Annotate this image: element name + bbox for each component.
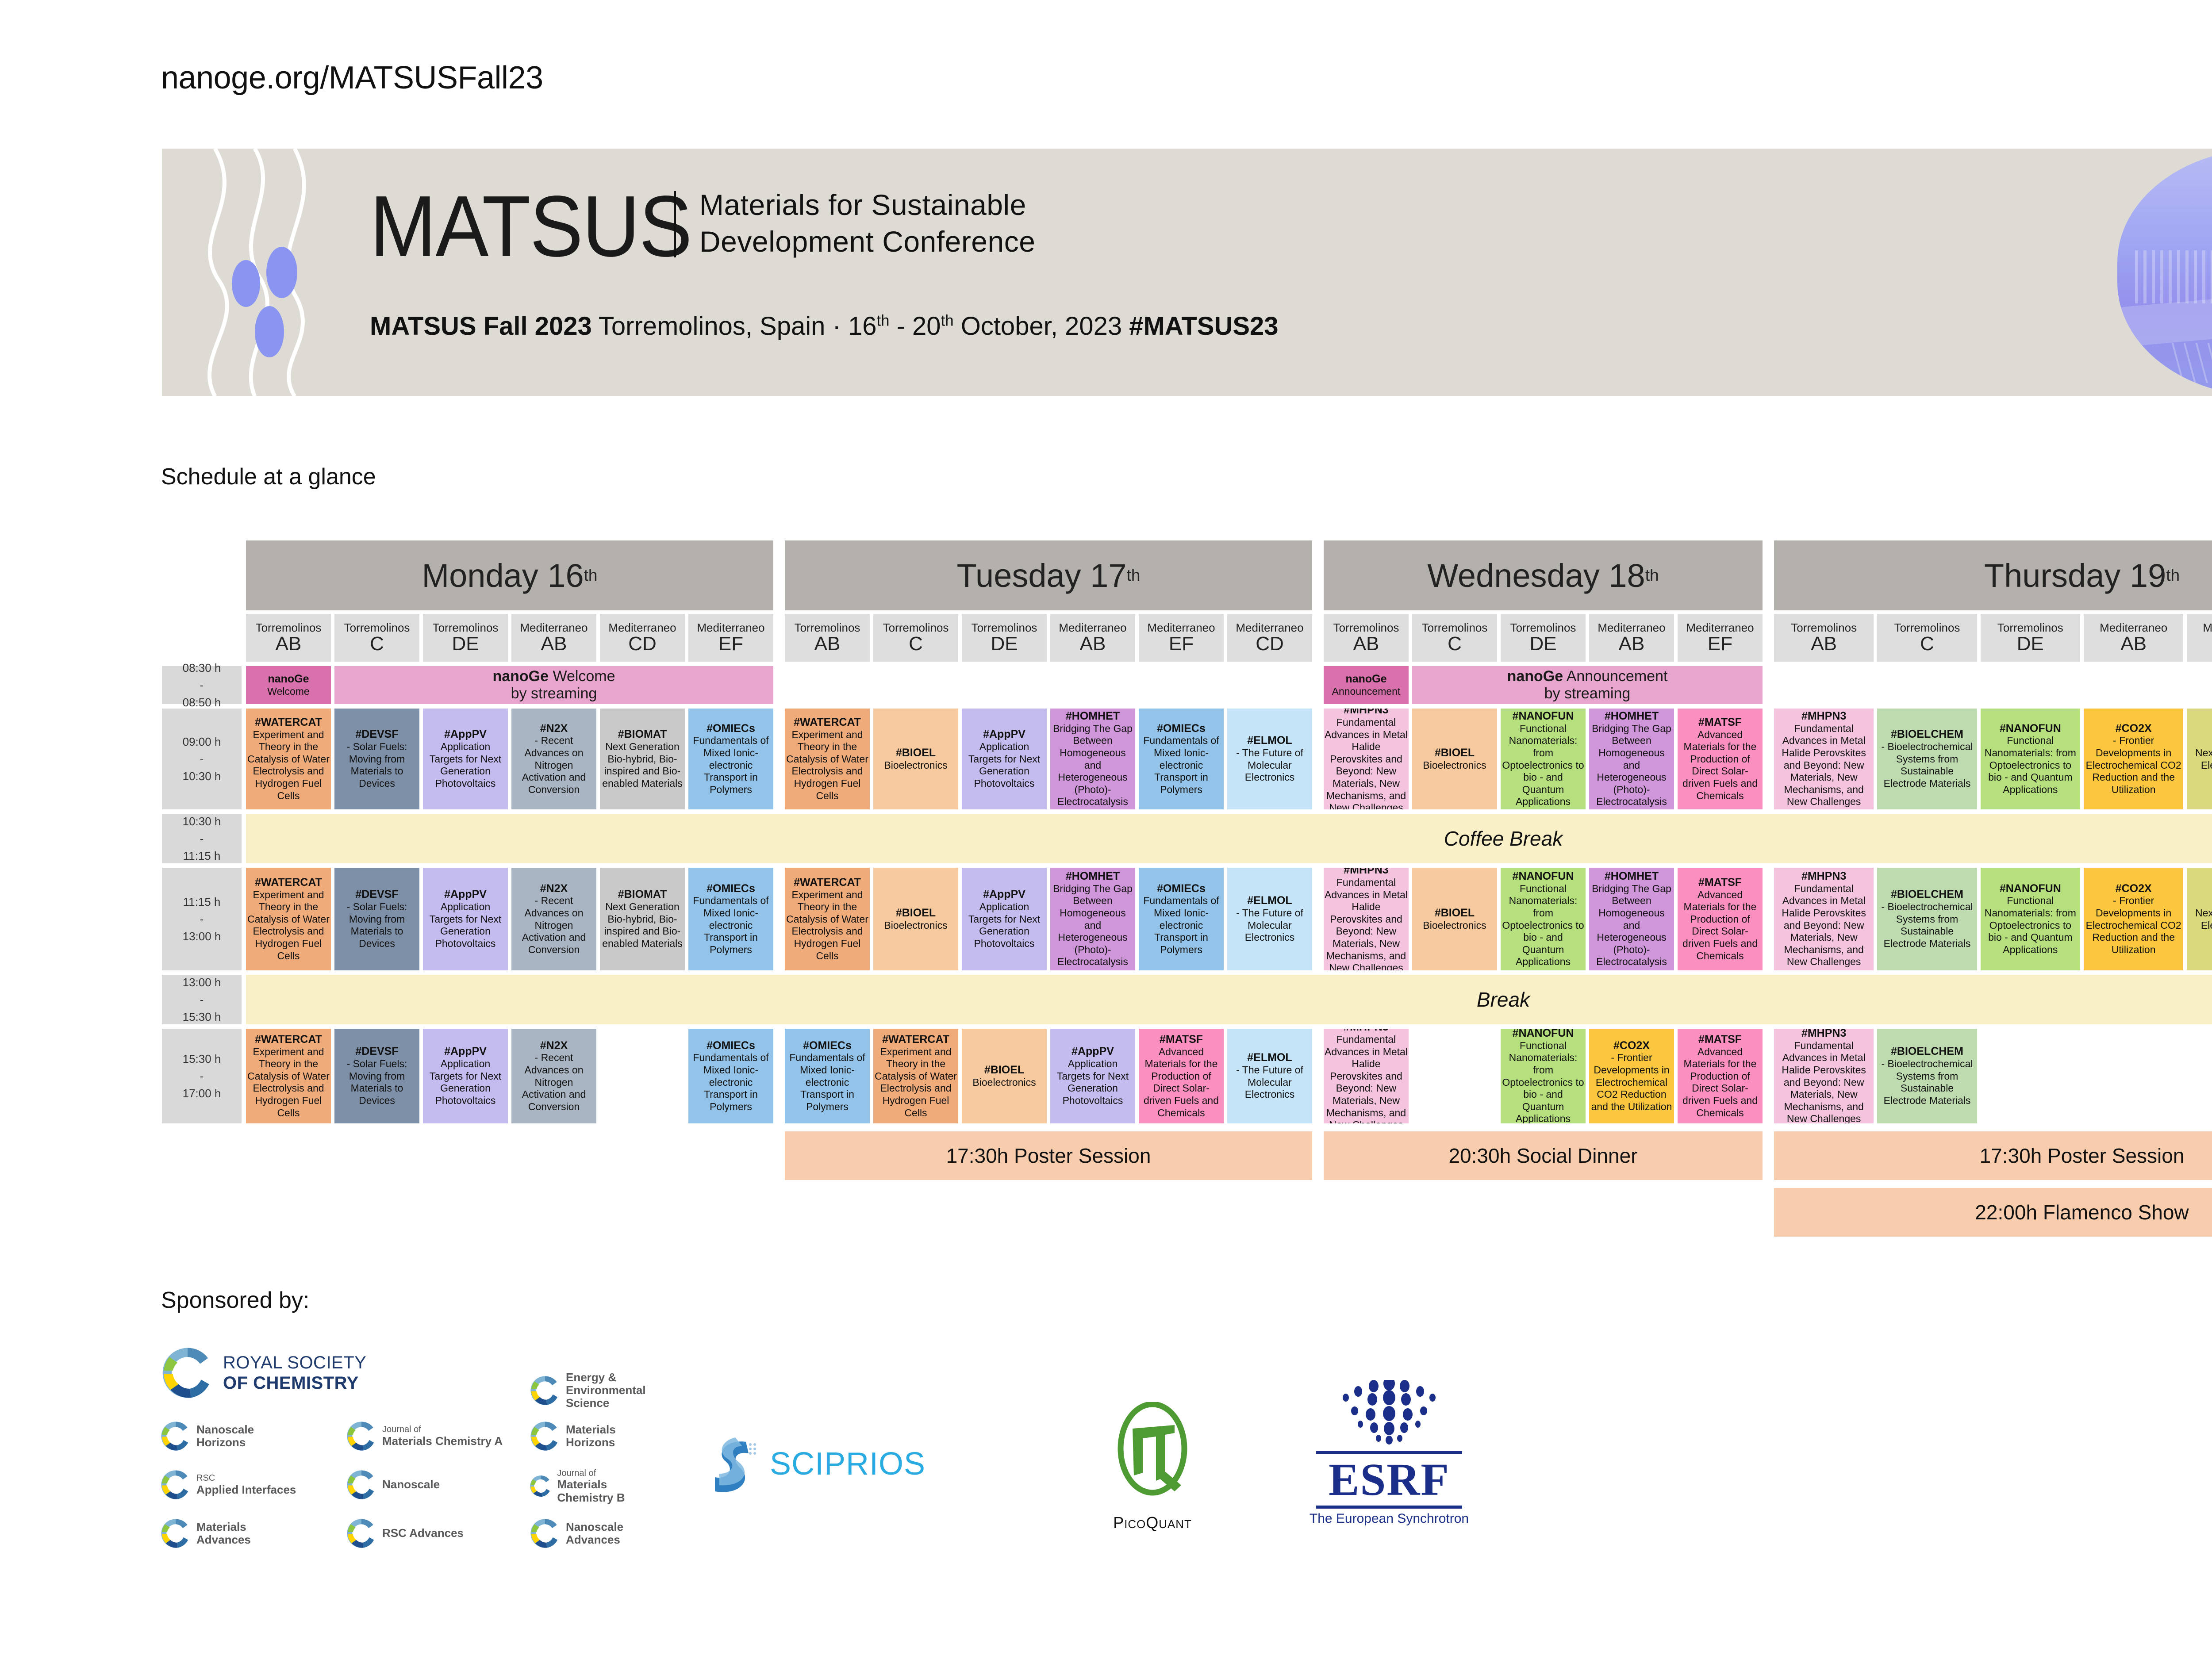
session-code: #OMIECs <box>803 1039 852 1052</box>
session-desc: Fundamentals of Mixed Ionic-electronic T… <box>689 895 772 956</box>
session-desc: Fundamentals of Mixed Ionic-electronic T… <box>1140 735 1223 796</box>
session-nanofun[interactable]: #NANOFUNFunctional Nanomaterials: from O… <box>1981 709 2080 809</box>
session-homhet[interactable]: #HOMHETBridging The Gap Between Homogene… <box>1589 868 1674 970</box>
session-matsf[interactable]: #MATSFAdvanced Materials for the Product… <box>1678 868 1763 970</box>
session-desc: Functional Nanomaterials: from Optoelect… <box>1502 1040 1585 1123</box>
streaming-label: Announcement <box>1563 668 1667 685</box>
session-apppv[interactable]: #AppPVApplication Targets for Next Gener… <box>423 709 508 809</box>
room-name: Torremolinos <box>1333 622 1399 633</box>
rsc-c-icon <box>345 1420 378 1452</box>
time-label: 10:30 h-11:15 h <box>162 814 242 863</box>
room-header-torremolinos-de: TorremolinosDE <box>1981 614 2080 662</box>
room-name: Torremolinos <box>433 622 499 633</box>
room-name: Torremolinos <box>1510 622 1576 633</box>
session-watercat[interactable]: #WATERCATExperiment and Theory in the Ca… <box>785 709 870 809</box>
session-desc: Fundamental Advances in Metal Halide Per… <box>1325 1034 1408 1123</box>
session-watercat[interactable]: #WATERCATExperiment and Theory in the Ca… <box>246 1029 331 1123</box>
room-code: AB <box>814 634 841 654</box>
row-opening: 08:30 h-08:50 hnanoGeWelcomenanoGe Welco… <box>162 666 2212 704</box>
session-nanofun[interactable]: #NANOFUNFunctional Nanomaterials: from O… <box>1501 709 1586 809</box>
session-code: #NANOFUN <box>2000 722 2061 735</box>
session-desc: Functional Nanomaterials: from Optoelect… <box>1502 723 1585 808</box>
sponsor-journal-materials-horizons[interactable]: MaterialsHorizons <box>529 1420 616 1452</box>
session-desc: Next Generation Bio-hybrid, Bio-inspired… <box>601 741 684 789</box>
session-desc: Fundamentals of Mixed Ionic-electronic T… <box>689 1052 772 1113</box>
session-homhet[interactable]: #HOMHETBridging The Gap Between Homogene… <box>1050 868 1135 970</box>
sponsor-journal-materials-chemistry-b[interactable]: Journal ofMaterials Chemistry B <box>529 1468 646 1504</box>
streaming-sub: by streaming <box>511 685 597 702</box>
rsc-c-icon <box>159 1345 216 1401</box>
room-code: AB <box>276 634 302 654</box>
sponsor-journal-materials-advances[interactable]: MaterialsAdvances <box>159 1517 251 1550</box>
time-from: 11:15 h <box>183 893 221 911</box>
session-bioel[interactable]: #BIOELBioelectronics <box>1412 868 1497 970</box>
room-name: Mediterraneo <box>2203 622 2212 633</box>
session-code: #WATERCAT <box>255 1033 322 1046</box>
row-morning-1: 09:00 h-10:30 h#WATERCATExperiment and T… <box>162 709 2212 809</box>
time-label: 15:30 h-17:00 h <box>162 1029 242 1123</box>
banner-date-tail: October, 2023 <box>954 312 1129 341</box>
session-code: #NANOFUN <box>1513 870 1574 883</box>
room-name: Mediterraneo <box>1147 622 1215 633</box>
journal-label: NanoscaleHorizons <box>196 1423 254 1449</box>
nanoge-announcement-streaming[interactable]: nanoGe Announcementby streaming <box>1412 666 1763 704</box>
room-header-mediterraneo-ab: MediterraneoAB <box>1589 614 1674 662</box>
session-code: #HOMHET <box>1605 710 1659 723</box>
room-name: Torremolinos <box>1894 622 1960 633</box>
session-n2x[interactable]: #N2X - Recent Advances on Nitrogen Activ… <box>511 709 596 809</box>
session-omiecs[interactable]: #OMIECsFundamentals of Mixed Ionic-elect… <box>688 868 773 970</box>
session-code: #OMIECs <box>707 1039 755 1052</box>
room-code: AB <box>1353 634 1379 654</box>
time-from: 09:00 h <box>183 733 221 751</box>
session-code: #WATERCAT <box>882 1033 949 1046</box>
session-code: #MATSF <box>1160 1033 1203 1046</box>
session-mhpn3[interactable]: #MHPN3Fundamental Advances in Metal Hali… <box>1774 868 1874 970</box>
session-code: #CO2X <box>2116 722 2152 735</box>
social-event-label: 17:30h Poster Session <box>1980 1144 2185 1168</box>
session-omiecs[interactable]: #OMIECsFundamentals of Mixed Ionic-elect… <box>1139 868 1224 970</box>
session-code: #HOMHET <box>1605 870 1659 883</box>
room-header-mediterraneo-ab: MediterraneoAB <box>2084 614 2183 662</box>
rsc-line2: OF CHEMISTRY <box>223 1373 359 1393</box>
session-desc: Fundamental Advances in Metal Halide Per… <box>1325 716 1408 809</box>
room-name: Torremolinos <box>1791 622 1857 633</box>
time-to: 17:00 h <box>183 1085 221 1102</box>
room-header-torremolinos-de: TorremolinosDE <box>962 614 1047 662</box>
esrf-logo: ESRF The European Synchrotron <box>1296 1380 1482 1526</box>
journal-prefix: Journal of <box>557 1468 646 1478</box>
time-label: 13:00 h-15:30 h <box>162 975 242 1024</box>
session-nanofun[interactable]: #NANOFUNFunctional Nanomaterials: from O… <box>1501 868 1586 970</box>
picoquant-uant: UANT <box>1159 1518 1192 1531</box>
session-code: #OMIECs <box>1157 722 1206 735</box>
session-code: #BIOEL <box>1435 747 1475 759</box>
day-header-monday: Monday 16th <box>246 540 773 610</box>
session-code: #OMIECs <box>1157 882 1206 895</box>
session-nexted[interactable]: #NextEDNext generation of Electrochemica… <box>2187 868 2212 970</box>
session-desc: Bridging The Gap Between Homogeneous and… <box>1590 883 1673 968</box>
session-desc: Advanced Materials for the Production of… <box>1678 729 1762 802</box>
room-name: Mediterraneo <box>1686 622 1754 633</box>
session-code: #DEVSF <box>355 728 398 741</box>
room-header-torremolinos-de: TorremolinosDE <box>1501 614 1586 662</box>
sponsor-journal-materials-chemistry-a[interactable]: Journal ofMaterials Chemistry A <box>345 1420 503 1452</box>
journal-label: RSCApplied Interfaces <box>196 1473 296 1496</box>
session-code: #MHPN3 <box>1344 868 1388 877</box>
session-desc: Application Targets for Next Generation … <box>1051 1058 1134 1107</box>
session-nanofun[interactable]: #NANOFUNFunctional Nanomaterials: from O… <box>1501 1029 1586 1123</box>
journal-label: Nanoscale <box>382 1478 440 1491</box>
room-header-mediterraneo-ab: MediterraneoAB <box>511 614 596 662</box>
session-biomat[interactable]: #BIOMATNext Generation Bio-hybrid, Bio-i… <box>600 709 685 809</box>
session-watercat[interactable]: #WATERCATExperiment and Theory in the Ca… <box>785 868 870 970</box>
session-desc: Fundamental Advances in Metal Halide Per… <box>1775 883 1873 968</box>
session-n2x[interactable]: #N2X - Recent Advances on Nitrogen Activ… <box>511 1029 596 1123</box>
room-code: CD <box>628 634 657 654</box>
session-desc: Next Generation Bio-hybrid, Bio-inspired… <box>601 901 684 950</box>
session-code: #DEVSF <box>355 1045 398 1058</box>
rsc-c-icon <box>529 1470 553 1502</box>
session-code: #MATSF <box>1698 876 1742 889</box>
sponsored-by-label: Sponsored by: <box>161 1287 309 1314</box>
session-devsf[interactable]: #DEVSF - Solar Fuels: Moving from Materi… <box>334 868 419 970</box>
session-co2x[interactable]: #CO2X - Frontier Developments in Electro… <box>1589 1029 1674 1123</box>
room-header-row: TorremolinosABTorremolinosCTorremolinosD… <box>162 614 2212 662</box>
room-header-torremolinos-c: TorremolinosC <box>1877 614 1977 662</box>
session-apppv[interactable]: #AppPVApplication Targets for Next Gener… <box>1050 1029 1135 1123</box>
session-elmol[interactable]: #ELMOL - The Future of Molecular Electro… <box>1227 868 1312 970</box>
session-watercat[interactable]: #WATERCATExperiment and Theory in the Ca… <box>873 1029 958 1123</box>
session-desc: Application Targets for Next Generation … <box>963 741 1046 789</box>
journal-label: Energy &EnvironmentalScience <box>566 1371 646 1410</box>
row-morning-2: 11:15 h-13:00 h#WATERCATExperiment and T… <box>162 868 2212 970</box>
session-code: #HOMHET <box>1066 710 1120 723</box>
session-apppv[interactable]: #AppPVApplication Targets for Next Gener… <box>962 709 1047 809</box>
room-code: C <box>1448 634 1462 654</box>
session-mhpn3[interactable]: #MHPN3Fundamental Advances in Metal Hali… <box>1324 868 1409 970</box>
sponsor-journal-nanoscale-horizons[interactable]: NanoscaleHorizons <box>159 1420 254 1452</box>
session-elmol[interactable]: #ELMOL - The Future of Molecular Electro… <box>1227 709 1312 809</box>
room-code: C <box>370 634 384 654</box>
session-desc: - Solar Fuels: Moving from Materials to … <box>335 1058 419 1107</box>
rsc-c-icon <box>529 1374 561 1407</box>
session-mhpn3[interactable]: #MHPN3Fundamental Advances in Metal Hali… <box>1774 709 1874 809</box>
session-co2x[interactable]: #CO2X - Frontier Developments in Electro… <box>2084 709 2183 809</box>
session-elmol[interactable]: #ELMOL - The Future of Molecular Electro… <box>1227 1029 1312 1123</box>
session-desc: Announcement <box>1332 686 1401 698</box>
session-desc: Fundamentals of Mixed Ionic-electronic T… <box>1140 895 1223 956</box>
session-omiecs[interactable]: #OMIECsFundamentals of Mixed Ionic-elect… <box>1139 709 1224 809</box>
session-desc: Fundamental Advances in Metal Halide Per… <box>1775 1040 1873 1123</box>
social-event-label: 20:30h Social Dinner <box>1448 1144 1637 1168</box>
session-desc: Application Targets for Next Generation … <box>424 741 507 789</box>
session-omiecs[interactable]: #OMIECsFundamentals of Mixed Ionic-elect… <box>688 709 773 809</box>
session-desc: Bioelectronics <box>884 759 947 772</box>
social-event-label: 22:00h Flamenco Show <box>1975 1200 2189 1224</box>
session-omiecs[interactable]: #OMIECsFundamentals of Mixed Ionic-elect… <box>688 1029 773 1123</box>
picoquant-wordmark: PICOQUANT <box>1079 1508 1225 1533</box>
streaming-label: Welcome <box>549 668 615 685</box>
sponsor-journal-energy-environmental-science[interactable]: Energy &EnvironmentalScience <box>529 1371 646 1410</box>
day-title: Tuesday 17 <box>957 557 1127 594</box>
session-code: #BIOMAT <box>618 728 667 741</box>
session-bioelchem[interactable]: #BIOELCHEM - Bioelectrochemical Systems … <box>1877 1029 1977 1123</box>
session-code: #AppPV <box>983 728 1025 741</box>
session-devsf[interactable]: #DEVSF - Solar Fuels: Moving from Materi… <box>334 1029 419 1123</box>
session-homhet[interactable]: #HOMHETBridging The Gap Between Homogene… <box>1050 709 1135 809</box>
session-desc: - Frontier Developments in Electrochemic… <box>1590 1052 1673 1113</box>
session-code: #BIOEL <box>1435 907 1475 920</box>
session-code: #AppPV <box>444 728 487 741</box>
session-code: #N2X <box>540 1039 568 1052</box>
time-to: 15:30 h <box>183 1008 221 1026</box>
room-code: EF <box>1169 634 1194 654</box>
row-lunch-break: 13:00 h-15:30 hBreak <box>162 975 2212 1024</box>
session-nexted[interactable]: #NextEDNext generation of Electrochemica… <box>2187 709 2212 809</box>
journal-label: MaterialsHorizons <box>566 1423 616 1449</box>
social-event-label: 17:30h Poster Session <box>946 1144 1151 1168</box>
time-label: 11:15 h-13:00 h <box>162 868 242 970</box>
session-desc: - Recent Advances on Nitrogen Activation… <box>512 1052 595 1113</box>
time-label: 09:00 h-10:30 h <box>162 709 242 809</box>
session-desc: - Recent Advances on Nitrogen Activation… <box>512 735 595 796</box>
session-bioel[interactable]: #BIOELBioelectronics <box>873 709 958 809</box>
session-nanofun[interactable]: #NANOFUNFunctional Nanomaterials: from O… <box>1981 868 2080 970</box>
conference-banner: MATSUS Materials for Sustainable Develop… <box>162 149 2212 396</box>
sponsor-journal-nanoscale-advances[interactable]: NanoscaleAdvances <box>529 1517 623 1550</box>
day-header-row: Monday 16thTuesday 17thWednesday 18thThu… <box>162 540 2212 610</box>
room-name: Torremolinos <box>883 622 949 633</box>
session-bioel[interactable]: #BIOELBioelectronics <box>962 1029 1047 1123</box>
session-homhet[interactable]: #HOMHETBridging The Gap Between Homogene… <box>1589 709 1674 809</box>
session-code: #CO2X <box>2116 882 2152 895</box>
social-event-0[interactable]: 17:30h Poster Session <box>785 1131 1312 1180</box>
social-event-3[interactable]: 22:00h Flamenco Show <box>1774 1188 2212 1237</box>
day-ordinal: th <box>2166 566 2180 585</box>
banner-ordinal-1: th <box>876 312 889 330</box>
session-desc: Advanced Materials for the Production of… <box>1140 1046 1223 1119</box>
session-code: #AppPV <box>444 1045 487 1058</box>
session-code: #AppPV <box>444 888 487 901</box>
banner-dash: - 20 <box>890 312 941 341</box>
row-social-events-2: 22:00h Flamenco Show <box>162 1188 2212 1237</box>
session-code: #DEVSF <box>355 888 398 901</box>
room-code: DE <box>2017 634 2044 654</box>
banner-subtitle-line2: Development Conference <box>699 223 1035 260</box>
session-desc: Bioelectronics <box>972 1077 1036 1089</box>
picoquant-logo: PICOQUANT <box>1079 1402 1225 1533</box>
session-code: #ELMOL <box>1247 734 1292 747</box>
session-desc: Bioelectronics <box>1423 920 1486 932</box>
session-code: #WATERCAT <box>794 876 861 889</box>
session-apppv[interactable]: #AppPVApplication Targets for Next Gener… <box>423 1029 508 1123</box>
session-code: #MHPN3 <box>1344 1029 1388 1034</box>
session-code: #NANOFUN <box>1513 710 1574 723</box>
sponsor-journal-applied-interfaces[interactable]: RSCApplied Interfaces <box>159 1468 296 1501</box>
rsc-c-icon <box>159 1468 192 1501</box>
room-code: C <box>1920 634 1934 654</box>
room-code: AB <box>2120 634 2147 654</box>
session-desc: Functional Nanomaterials: from Optoelect… <box>1982 895 2079 956</box>
journal-prefix: Journal of <box>382 1425 503 1434</box>
room-name: Mediterraneo <box>608 622 676 633</box>
streaming-brand: nanoGe <box>1507 668 1563 685</box>
journal-label: NanoscaleAdvances <box>566 1521 623 1546</box>
time-from: 08:30 h <box>183 659 221 677</box>
session-desc: Bridging The Gap Between Homogeneous and… <box>1051 723 1134 808</box>
session-desc: - The Future of Molecular Electronics <box>1228 1064 1311 1101</box>
time-to: 11:15 h <box>183 847 221 865</box>
room-name: Torremolinos <box>1422 622 1488 633</box>
banner-edition: MATSUS Fall 2023 <box>370 312 592 341</box>
room-header-torremolinos-ab: TorremolinosAB <box>785 614 870 662</box>
session-apppv[interactable]: #AppPVApplication Targets for Next Gener… <box>962 868 1047 970</box>
session-code: #WATERCAT <box>794 716 861 729</box>
time-from: 10:30 h <box>183 813 221 830</box>
session-code: #BIOEL <box>896 747 936 759</box>
session-code: nanoGe <box>268 673 309 686</box>
room-code: AB <box>541 634 567 654</box>
room-header-mediterraneo-cd: MediterraneoCD <box>1227 614 1312 662</box>
session-desc: Fundamentals of Mixed Ionic-electronic T… <box>786 1052 869 1113</box>
session-desc: Bioelectronics <box>1423 759 1486 772</box>
room-code: DE <box>452 634 479 654</box>
sciprios-wordmark: SCIPRIOS <box>770 1446 926 1482</box>
room-header-mediterraneo-cd: MediterraneoCD <box>2187 614 2212 662</box>
session-matsf[interactable]: #MATSFAdvanced Materials for the Product… <box>1678 1029 1763 1123</box>
day-header-tuesday: Tuesday 17th <box>785 540 1312 610</box>
session-code: #MHPN3 <box>1801 1029 1846 1040</box>
nanoge-announcement-room[interactable]: nanoGeAnnouncement <box>1324 666 1409 704</box>
rsc-c-icon <box>529 1420 561 1452</box>
session-bioelchem[interactable]: #BIOELCHEM - Bioelectrochemical Systems … <box>1877 709 1977 809</box>
day-ordinal: th <box>1127 566 1141 585</box>
time-dash: - <box>200 911 204 928</box>
session-code: #AppPV <box>983 888 1025 901</box>
session-watercat[interactable]: #WATERCATExperiment and Theory in the Ca… <box>246 709 331 809</box>
picoquant-ring-icon <box>1108 1402 1197 1504</box>
day-title: Wednesday 18 <box>1427 557 1645 594</box>
session-code: #WATERCAT <box>255 876 322 889</box>
time-dash: - <box>200 830 204 847</box>
matsus-dots-mark <box>211 224 326 352</box>
social-event-2[interactable]: 17:30h Poster Session <box>1774 1131 2212 1180</box>
session-code: #HOMHET <box>1066 870 1120 883</box>
session-code: #N2X <box>540 722 568 735</box>
rsc-c-icon <box>345 1468 378 1501</box>
social-event-1[interactable]: 20:30h Social Dinner <box>1324 1131 1763 1180</box>
poster-page: nanoge.org/MATSUSFall23 MATSUS Materials… <box>0 0 2212 1659</box>
room-header-torremolinos-c: TorremolinosC <box>334 614 419 662</box>
sponsor-journal-nanoscale[interactable]: Nanoscale <box>345 1468 440 1501</box>
session-desc: - Recent Advances on Nitrogen Activation… <box>512 895 595 956</box>
room-name: Mediterraneo <box>1598 622 1665 633</box>
streaming-brand: nanoGe <box>492 668 549 685</box>
session-code: #MHPN3 <box>1801 710 1846 723</box>
session-bioel[interactable]: #BIOELBioelectronics <box>1412 709 1497 809</box>
session-desc: Experiment and Theory in the Catalysis o… <box>247 729 330 802</box>
rsc-c-icon <box>159 1517 192 1550</box>
session-watercat[interactable]: #WATERCATExperiment and Theory in the Ca… <box>246 868 331 970</box>
rsc-line1: ROYAL SOCIETY <box>223 1353 366 1372</box>
session-mhpn3[interactable]: #MHPN3Fundamental Advances in Metal Hali… <box>1324 709 1409 809</box>
time-to: 10:30 h <box>183 768 221 785</box>
rsc-c-icon <box>159 1420 192 1452</box>
session-mhpn3[interactable]: #MHPN3Fundamental Advances in Metal Hali… <box>1774 1029 1874 1123</box>
session-code: #BIOELCHEM <box>1891 1045 1963 1058</box>
lunch-break-bar: Break <box>246 975 2212 1024</box>
session-bioel[interactable]: #BIOELBioelectronics <box>873 868 958 970</box>
session-code: #MATSF <box>1698 1033 1742 1046</box>
session-biomat[interactable]: #BIOMATNext Generation Bio-hybrid, Bio-i… <box>600 868 685 970</box>
time-from: 13:00 h <box>183 974 221 991</box>
schedule-at-a-glance-label: Schedule at a glance <box>161 464 376 490</box>
session-co2x[interactable]: #CO2X - Frontier Developments in Electro… <box>2084 868 2183 970</box>
session-code: #WATERCAT <box>255 716 322 729</box>
time-from: 15:30 h <box>183 1050 221 1068</box>
coffee-break-bar: Coffee Break <box>246 814 2212 863</box>
schedule-grid: Monday 16thTuesday 17thWednesday 18thThu… <box>162 540 2212 1237</box>
room-code: EF <box>718 634 743 654</box>
session-desc: Experiment and Theory in the Catalysis o… <box>786 729 869 802</box>
room-header-torremolinos-c: TorremolinosC <box>873 614 958 662</box>
time-dash: - <box>200 751 204 768</box>
sponsor-journal-rsc-advances[interactable]: RSC Advances <box>345 1517 464 1550</box>
sponsor-royal-society-of-chemistry[interactable]: ROYAL SOCIETYOF CHEMISTRY <box>159 1345 366 1401</box>
esrf-dots-icon <box>1296 1380 1482 1446</box>
session-devsf[interactable]: #DEVSF - Solar Fuels: Moving from Materi… <box>334 709 419 809</box>
room-header-mediterraneo-ef: MediterraneoEF <box>1139 614 1224 662</box>
banner-datestrip: MATSUS Fall 2023 Torremolinos, Spain · 1… <box>370 311 1279 341</box>
session-n2x[interactable]: #N2X - Recent Advances on Nitrogen Activ… <box>511 868 596 970</box>
streaming-sub: by streaming <box>1544 685 1631 702</box>
time-to: 13:00 h <box>183 928 221 945</box>
session-desc: Experiment and Theory in the Catalysis o… <box>786 889 869 962</box>
room-header-torremolinos-ab: TorremolinosAB <box>1774 614 1874 662</box>
room-code: CD <box>1256 634 1284 654</box>
day-ordinal: th <box>584 566 598 585</box>
room-header-torremolinos-ab: TorremolinosAB <box>246 614 331 662</box>
nanoge-welcome-room[interactable]: nanoGeWelcome <box>246 666 331 704</box>
room-header-mediterraneo-ef: MediterraneoEF <box>1678 614 1763 662</box>
session-desc: Fundamental Advances in Metal Halide Per… <box>1775 723 1873 808</box>
session-code: #ELMOL <box>1247 1051 1292 1064</box>
session-code: #MATSF <box>1698 716 1742 729</box>
session-apppv[interactable]: #AppPVApplication Targets for Next Gener… <box>423 868 508 970</box>
row-social-events: 17:30h Poster Session20:30h Social Dinne… <box>162 1131 2212 1180</box>
session-bioelchem[interactable]: #BIOELCHEM - Bioelectrochemical Systems … <box>1877 868 1977 970</box>
room-header-torremolinos-de: TorremolinosDE <box>423 614 508 662</box>
rsc-c-icon <box>529 1517 561 1550</box>
nanoge-welcome-streaming[interactable]: nanoGe Welcomeby streaming <box>334 666 773 704</box>
session-desc: Application Targets for Next Generation … <box>424 1058 507 1107</box>
matsus-wordmark: MATSUS <box>370 183 691 270</box>
session-matsf[interactable]: #MATSFAdvanced Materials for the Product… <box>1139 1029 1224 1123</box>
banner-location: Torremolinos, Spain · 16 <box>592 312 877 341</box>
picoquant-ico: ICO <box>1124 1518 1146 1531</box>
row-afternoon: 15:30 h-17:00 h#WATERCATExperiment and T… <box>162 1029 2212 1123</box>
session-matsf[interactable]: #MATSFAdvanced Materials for the Product… <box>1678 709 1763 809</box>
room-code: AB <box>1619 634 1645 654</box>
room-name: Torremolinos <box>344 622 410 633</box>
day-header-wednesday: Wednesday 18th <box>1324 540 1763 610</box>
session-mhpn3[interactable]: #MHPN3Fundamental Advances in Metal Hali… <box>1324 1029 1409 1123</box>
session-desc: - Solar Fuels: Moving from Materials to … <box>335 741 419 789</box>
session-omiecs[interactable]: #OMIECsFundamentals of Mixed Ionic-elect… <box>785 1029 870 1123</box>
session-desc: - Frontier Developments in Electrochemic… <box>2085 735 2182 796</box>
session-code: #AppPV <box>1071 1045 1114 1058</box>
